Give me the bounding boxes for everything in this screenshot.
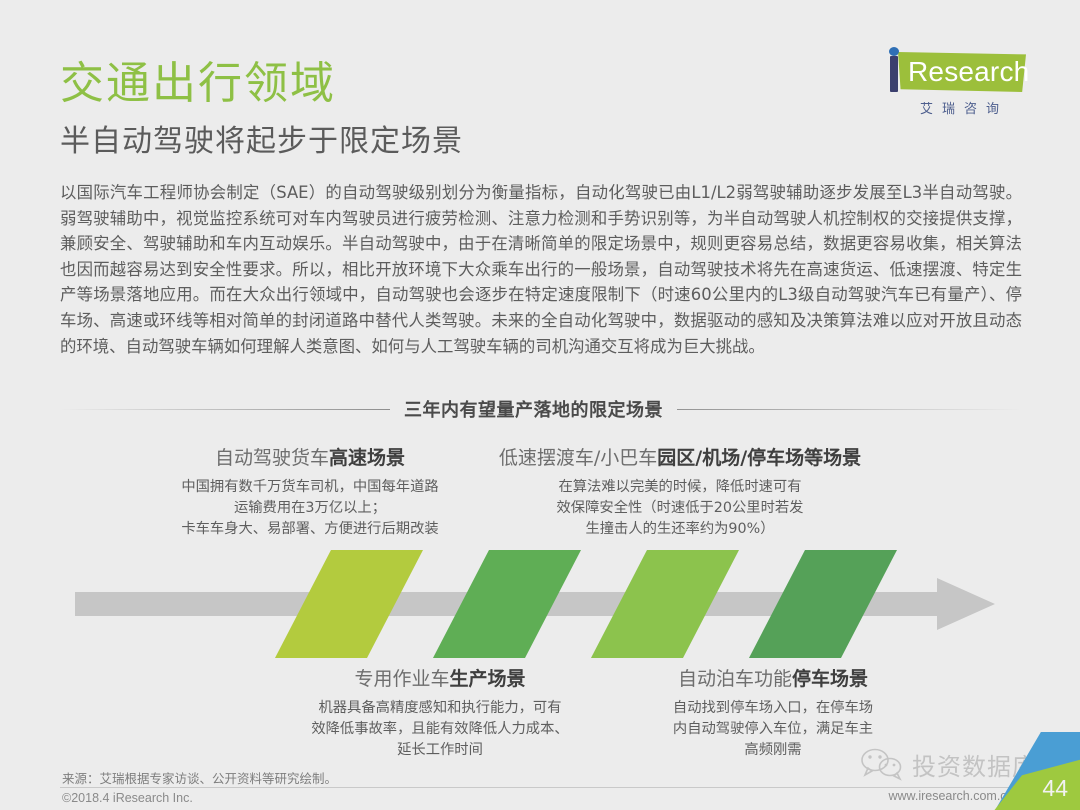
callout-description: 机器具备高精度感知和执行能力，可有效降低事故率，且能有效降低人力成本、延长工作时…	[270, 698, 610, 761]
arrow-head-icon	[937, 578, 995, 630]
logo-mark: Research	[880, 48, 1040, 98]
flow-arrow-graphic	[75, 548, 1005, 663]
footer-divider	[60, 787, 1022, 788]
section-rule-right	[677, 409, 1022, 410]
page-number: 44	[1042, 775, 1068, 802]
logo-wordmark: Research	[908, 55, 1029, 89]
callout-emphasis: 园区/机场/停车场等场景	[657, 447, 861, 469]
callout-title: 自动驾驶货车高速场景	[140, 444, 480, 472]
callout-lead: 低速摆渡车/小巴车	[499, 447, 657, 469]
callout-lead: 自动驾驶货车	[215, 447, 329, 469]
wechat-icon	[860, 747, 904, 781]
section-title: 三年内有望量产落地的限定场景	[404, 396, 663, 422]
source-note: 来源：艾瑞根据专家访谈、公开资料等研究绘制。	[62, 768, 337, 787]
page-title: 交通出行领域	[60, 58, 336, 110]
body-paragraph: 以国际汽车工程师协会制定（SAE）的自动驾驶级别划分为衡量指标，自动化驾驶已由L…	[60, 180, 1022, 359]
callout-production: 专用作业车生产场景 机器具备高精度感知和执行能力，可有效降低事故率，且能有效降低…	[270, 665, 610, 761]
callout-title: 低速摆渡车/小巴车园区/机场/停车场等场景	[460, 444, 900, 472]
section-header: 三年内有望量产落地的限定场景	[60, 396, 1022, 422]
callout-description: 中国拥有数千万货车司机，中国每年道路运输费用在3万亿以上；卡车车身大、易部署、方…	[140, 477, 480, 540]
callout-highway: 自动驾驶货车高速场景 中国拥有数千万货车司机，中国每年道路运输费用在3万亿以上；…	[140, 444, 480, 540]
callout-emphasis: 生产场景	[450, 668, 526, 690]
callout-description: 在算法难以完美的时候，降低时速可有效保障安全性（时速低于20公里时若发生撞击人的…	[460, 477, 900, 540]
callout-emphasis: 停车场景	[792, 668, 868, 690]
callout-title: 专用作业车生产场景	[270, 665, 610, 693]
callout-title: 自动泊车功能停车场景	[608, 665, 938, 693]
slide-canvas: Research 艾瑞咨询 交通出行领域 半自动驾驶将起步于限定场景 以国际汽车…	[0, 0, 1080, 810]
callout-emphasis: 高速场景	[329, 447, 405, 469]
callout-lead: 自动泊车功能	[678, 668, 792, 690]
logo-i-dot-icon	[889, 47, 899, 56]
iresearch-logo: Research 艾瑞咨询	[880, 48, 1040, 128]
section-rule-left	[60, 409, 390, 410]
callout-lead: 专用作业车	[354, 668, 449, 690]
callout-shuttle: 低速摆渡车/小巴车园区/机场/停车场等场景 在算法难以完美的时候，降低时速可有效…	[460, 444, 900, 540]
logo-chinese-name: 艾瑞咨询	[904, 98, 1024, 117]
page-subtitle: 半自动驾驶将起步于限定场景	[60, 122, 463, 162]
logo-i-stem	[890, 56, 898, 92]
copyright-note: ©2018.4 iResearch Inc.	[62, 791, 193, 805]
